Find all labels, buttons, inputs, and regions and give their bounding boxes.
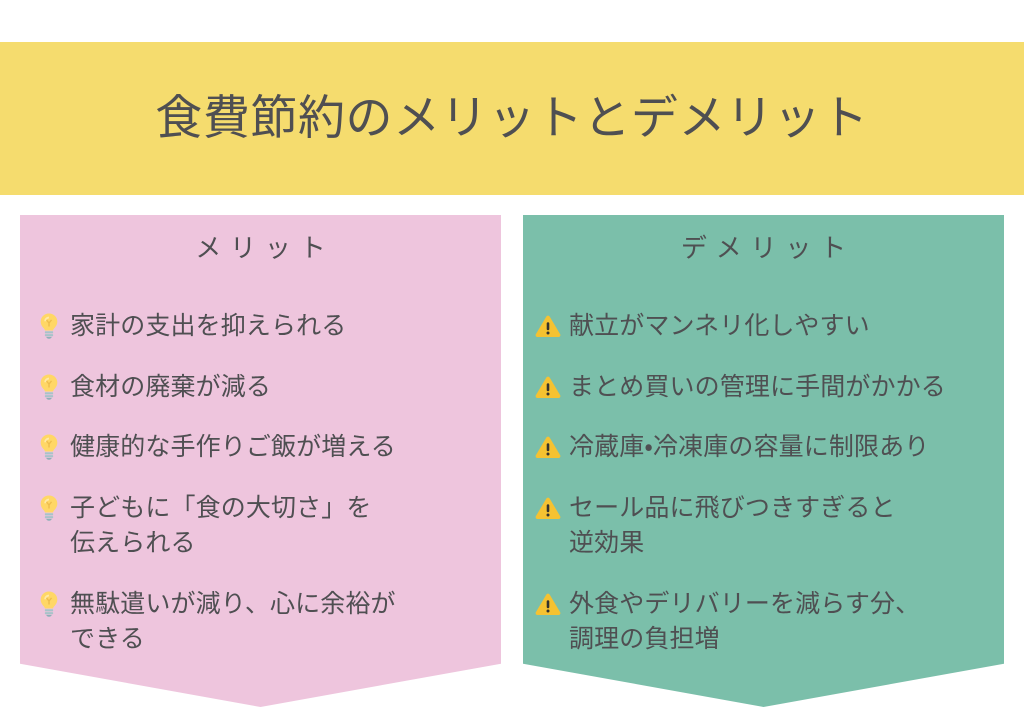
demerit-panel-header: デメリット xyxy=(523,233,1004,266)
list-item-text: 外食やデリバリーを減らす分、 調理の負担増 xyxy=(569,587,920,658)
merit-panel: メリット 家計の支出を抑えられる xyxy=(20,215,501,707)
list-item-text: セール品に飛びつきすぎると 逆効果 xyxy=(569,491,896,562)
list-item-text: 冷蔵庫・冷凍庫の容量に制限あり xyxy=(569,430,929,466)
warning-icon xyxy=(533,491,563,525)
list-item: 無駄遣いが減り、心に余裕が できる xyxy=(34,587,487,658)
list-item-text: 献立がマンネリ化しやすい xyxy=(569,309,870,345)
warning-icon xyxy=(533,309,563,343)
list-item: セール品に飛びつきすぎると 逆効果 xyxy=(533,491,994,562)
list-item: 健康的な手作りご飯が増える xyxy=(34,430,487,466)
lightbulb-icon xyxy=(34,587,64,621)
list-item-text: まとめ買いの管理に手間がかかる xyxy=(569,370,946,406)
list-item-text: 家計の支出を抑えられる xyxy=(70,309,346,345)
list-item: 食材の廃棄が減る xyxy=(34,370,487,406)
merit-list: 家計の支出を抑えられる 食材の廃棄が減る xyxy=(20,287,501,658)
warning-icon xyxy=(533,370,563,404)
lightbulb-icon xyxy=(34,309,64,343)
list-item: 子どもに「食の大切さ」を 伝えられる xyxy=(34,491,487,562)
list-item: 家計の支出を抑えられる xyxy=(34,309,487,345)
merit-panel-header: メリット xyxy=(20,233,501,266)
list-item-text: 無駄遣いが減り、心に余裕が できる xyxy=(70,587,396,658)
warning-icon xyxy=(533,430,563,464)
page-title: 食費節約のメリットとデメリット xyxy=(155,92,868,144)
lightbulb-icon xyxy=(34,491,64,525)
list-item: 冷蔵庫・冷凍庫の容量に制限あり xyxy=(533,430,994,466)
list-item-text: 食材の廃棄が減る xyxy=(70,370,271,406)
demerit-list: 献立がマンネリ化しやすい まとめ買いの管理に手間がかかる xyxy=(523,287,1004,658)
list-item: 献立がマンネリ化しやすい xyxy=(533,309,994,345)
lightbulb-icon xyxy=(34,430,64,464)
title-band: 食費節約のメリットとデメリット xyxy=(0,42,1024,195)
list-item-text: 健康的な手作りご飯が増える xyxy=(70,430,396,466)
list-item-text: 子どもに「食の大切さ」を 伝えられる xyxy=(70,491,372,562)
demerit-panel: デメリット 献立がマンネリ化しやすい xyxy=(523,215,1004,707)
list-item: まとめ買いの管理に手間がかかる xyxy=(533,370,994,406)
slide-canvas: 食費節約のメリットとデメリット メリット 家計の支出を抑えられる xyxy=(0,0,1024,724)
list-item: 外食やデリバリーを減らす分、 調理の負担増 xyxy=(533,587,994,658)
warning-icon xyxy=(533,587,563,621)
lightbulb-icon xyxy=(34,370,64,404)
